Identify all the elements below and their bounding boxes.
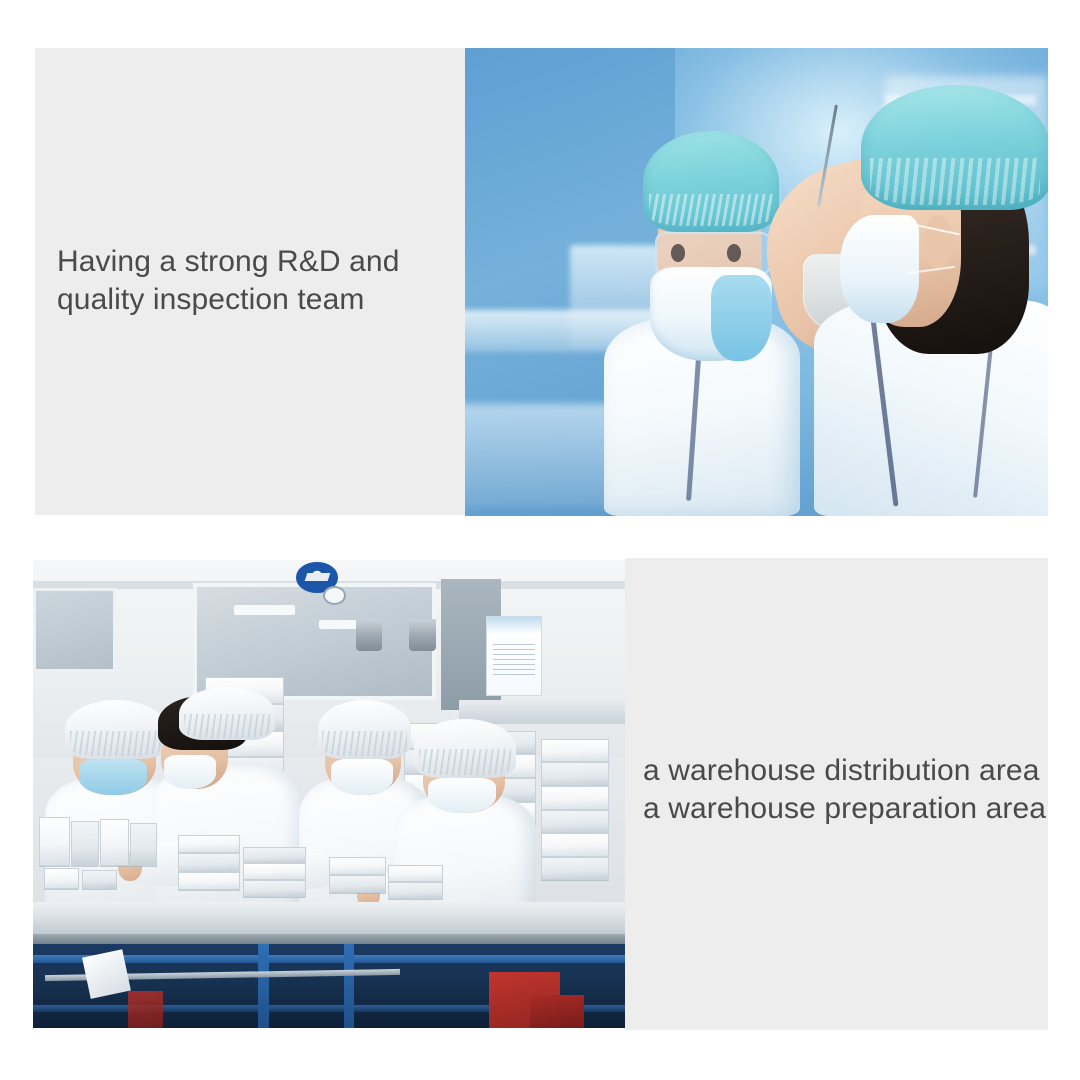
metal-canister [409, 619, 436, 652]
product-box [541, 833, 609, 857]
wall-notice-poster [486, 616, 542, 696]
product-box [178, 853, 241, 872]
hair-cap-blue [861, 85, 1048, 211]
top-caption-text: Having a strong R&D and quality inspecti… [57, 243, 457, 320]
hairnet [414, 719, 516, 777]
product-box [243, 863, 306, 880]
lab-worker-profile [803, 67, 1048, 516]
face-mask-blue-layer [711, 275, 772, 360]
product-box [388, 882, 442, 899]
box-stack-foreground-center [175, 831, 317, 915]
ceiling-light [234, 605, 295, 615]
product-box [541, 762, 609, 786]
warehouse-scene [33, 560, 625, 1028]
product-box [541, 786, 609, 810]
face-mask [840, 215, 919, 323]
product-box [541, 857, 609, 881]
hairnet [179, 687, 274, 741]
box-stack-foreground-left [39, 817, 157, 911]
face-mask [331, 759, 394, 795]
metal-canister [356, 619, 383, 652]
table-frame-leg [344, 944, 355, 1028]
box-stack-foreground-right [329, 850, 447, 916]
warehouse-packing-area-photo [33, 560, 625, 1028]
product-box [243, 880, 306, 897]
rd-quality-inspection-lab-photo [465, 48, 1048, 516]
product-box [541, 739, 609, 763]
wall-clock-icon [323, 586, 346, 605]
product-box [39, 817, 70, 866]
bottom-caption-text: a warehouse distribution area a warehous… [643, 752, 1053, 829]
hanging-paper [82, 949, 131, 999]
product-box [388, 865, 442, 882]
warehouse-side-window [33, 588, 116, 672]
product-box [178, 835, 241, 854]
face-mask [428, 778, 496, 814]
product-box [329, 875, 386, 893]
product-box [541, 810, 609, 834]
product-box [44, 868, 80, 889]
product-box [329, 857, 386, 875]
product-box [130, 823, 157, 866]
hair-cap-blue [643, 131, 778, 232]
product-box [178, 872, 241, 891]
red-garment [530, 995, 583, 1028]
face-mask [164, 755, 216, 789]
lab-scene [465, 48, 1048, 516]
red-garment [128, 991, 164, 1028]
face-mask [79, 759, 147, 795]
product-box [71, 821, 99, 866]
product-box [100, 819, 128, 866]
product-box [82, 870, 118, 889]
table-frame-leg [258, 944, 269, 1028]
slide-canvas: Having a strong R&D and quality inspecti… [0, 0, 1080, 1080]
lab-worker-ear [924, 215, 953, 269]
product-box [243, 847, 306, 864]
